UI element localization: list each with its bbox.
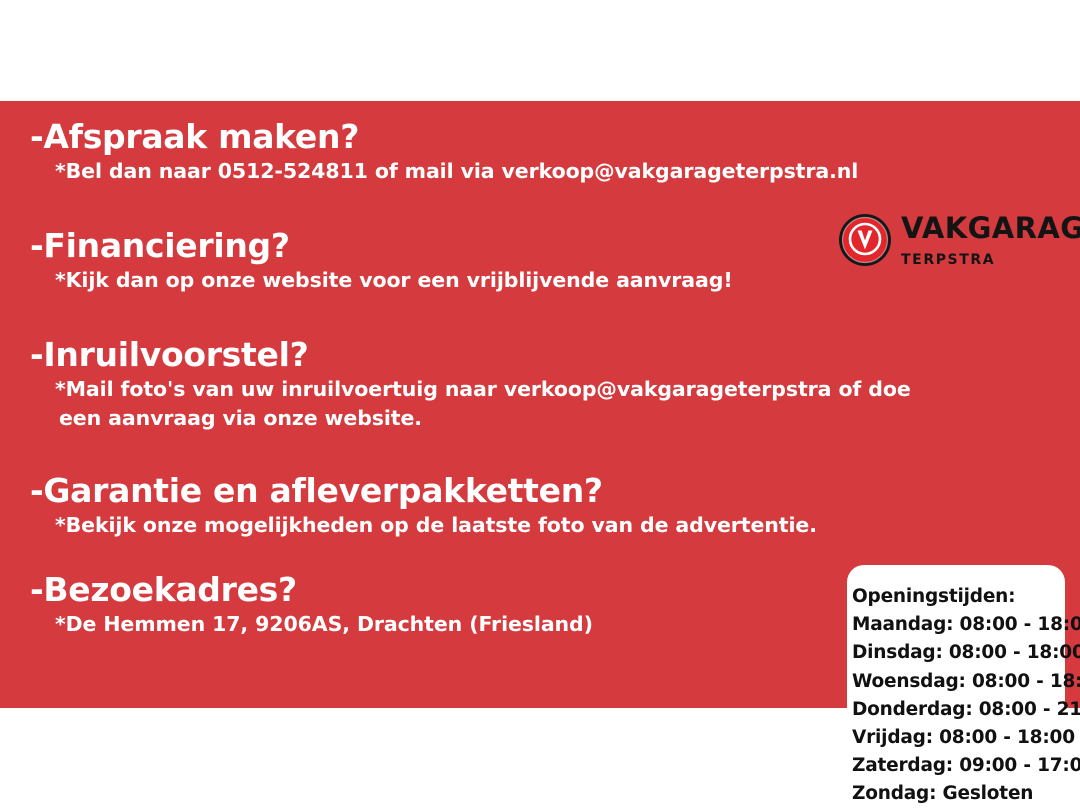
vakgarage-v-badge-icon xyxy=(838,213,892,267)
section-heading: -Garantie en afleverpakketten? xyxy=(30,473,840,510)
opening-hours-row-monday: Maandag: 08:00 - 18:00 xyxy=(852,611,1065,639)
opening-hours-row-saturday: Zaterdag: 09:00 - 17:00 xyxy=(852,752,1065,780)
section-bezoekadres: -Bezoekadres? *De Hemmen 17, 9206AS, Dra… xyxy=(30,572,840,637)
opening-hours-title: Openingstijden: xyxy=(852,583,1065,611)
logo-sub-brand-name: Terpstra xyxy=(901,247,1080,267)
section-detail-line: *Mail foto's van uw inruilvoertuig naar … xyxy=(55,376,840,402)
section-detail-line: *Kijk dan op onze website voor een vrijb… xyxy=(55,267,840,293)
opening-hours-row-tuesday: Dinsdag: 08:00 - 18:00 xyxy=(852,639,1065,667)
info-sections: -Afspraak maken? *Bel dan naar 0512-5248… xyxy=(30,119,840,637)
section-heading: -Financiering? xyxy=(30,228,840,265)
section-afspraak-maken: -Afspraak maken? *Bel dan naar 0512-5248… xyxy=(30,119,840,184)
vakgarage-terpstra-logo: VAKGARAGE Terpstra xyxy=(838,213,1080,267)
opening-hours-row-thursday: Donderdag: 08:00 - 21:00 xyxy=(852,696,1065,724)
advertisement-canvas: -Afspraak maken? *Bel dan naar 0512-5248… xyxy=(0,0,1080,810)
section-detail-line: *Bekijk onze mogelijkheden op de laatste… xyxy=(55,512,840,538)
section-financiering: -Financiering? *Kijk dan op onze website… xyxy=(30,228,840,293)
logo-brand-name: VAKGARAGE xyxy=(901,214,1080,243)
red-info-banner: -Afspraak maken? *Bel dan naar 0512-5248… xyxy=(0,101,1080,708)
section-detail-line-continued: een aanvraag via onze website. xyxy=(59,405,840,431)
section-heading: -Inruilvoorstel? xyxy=(30,337,840,374)
section-heading: -Afspraak maken? xyxy=(30,119,840,156)
opening-hours-row-sunday: Zondag: Gesloten xyxy=(852,780,1065,808)
section-heading: -Bezoekadres? xyxy=(30,572,840,609)
section-detail-line: *De Hemmen 17, 9206AS, Drachten (Friesla… xyxy=(55,611,840,637)
section-detail-line: *Bel dan naar 0512-524811 of mail via ve… xyxy=(55,158,840,184)
opening-hours-row-wednesday: Woensdag: 08:00 - 18:00 xyxy=(852,668,1065,696)
section-inruilvoorstel: -Inruilvoorstel? *Mail foto's van uw inr… xyxy=(30,337,840,430)
logo-wordmark: VAKGARAGE Terpstra xyxy=(901,214,1080,267)
opening-hours-row-friday: Vrijdag: 08:00 - 18:00 xyxy=(852,724,1065,752)
opening-hours-card: Openingstijden: Maandag: 08:00 - 18:00 D… xyxy=(847,565,1065,803)
section-garantie-en-afleverpakketten: -Garantie en afleverpakketten? *Bekijk o… xyxy=(30,473,840,538)
